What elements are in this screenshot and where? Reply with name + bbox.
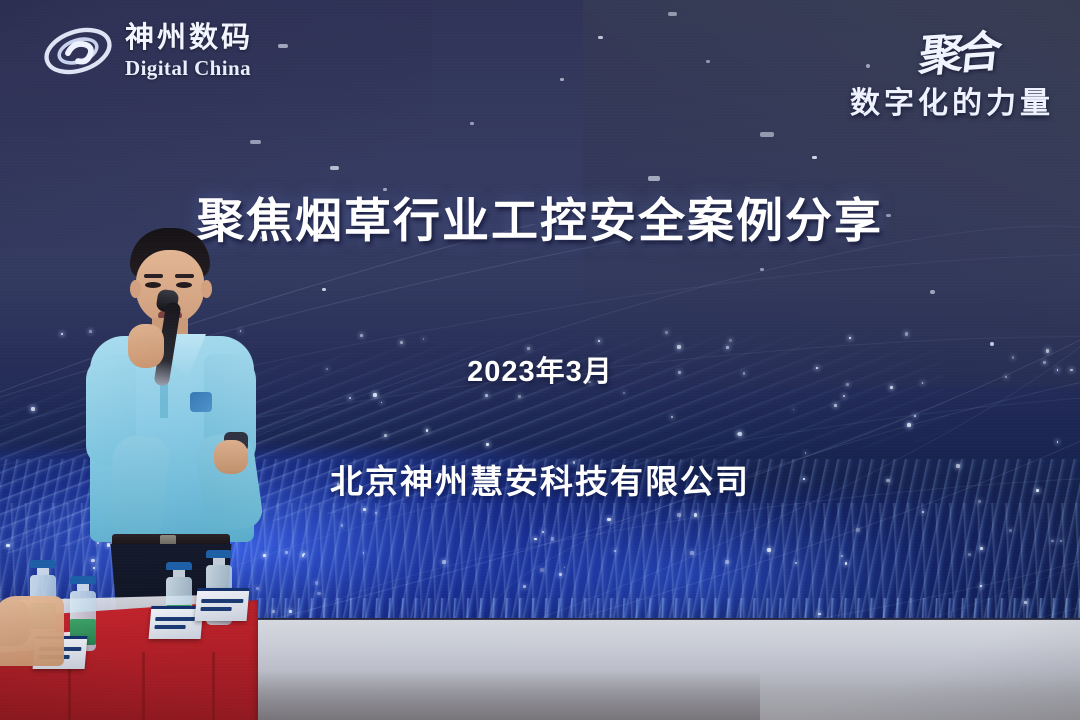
presenter-brow-left [144, 274, 163, 278]
particle-dot [905, 332, 909, 336]
particle-dot [1009, 529, 1012, 532]
particle-dot [317, 592, 321, 596]
particle-dot [677, 513, 681, 517]
bottle-neck [77, 584, 89, 591]
digital-china-wordmark: 神州数码 Digital China [125, 24, 253, 79]
particle-dot [426, 429, 428, 431]
particle-dot [534, 538, 536, 540]
dash-sparkle [990, 342, 994, 346]
particle-dot [6, 544, 9, 547]
table-cloth-fold [212, 652, 215, 720]
particle-dot [551, 537, 554, 540]
particle-dot [834, 404, 837, 407]
particle-dot [671, 416, 673, 418]
particle-dot [442, 560, 446, 564]
particle-dot [373, 393, 377, 397]
bottle-neck [213, 558, 225, 565]
particle-dot [272, 610, 275, 613]
event-calligraphy: 聚合 [916, 15, 1000, 84]
name-card [195, 588, 250, 621]
particle-dot [375, 512, 377, 514]
presenter-hand-right [214, 440, 248, 474]
particle-dot [729, 339, 732, 342]
dash-sparkle [470, 122, 474, 125]
digital-china-swirl-icon [42, 20, 114, 82]
event-slogan: 数字化的力量 [850, 78, 1054, 122]
particle-dot [665, 331, 668, 334]
particle-dot [795, 562, 797, 564]
presenter-brow-right [175, 274, 194, 278]
dash-sparkle [706, 60, 710, 63]
particle-dot [690, 551, 694, 555]
dash-sparkle [812, 156, 817, 159]
dash-sparkle [560, 78, 564, 81]
presenter-ear-right [201, 280, 212, 298]
conference-stage-photo: 神州数码 Digital China 聚合 数字化的力量 聚焦烟草行业工控安全案… [0, 0, 1080, 720]
bottle-cap [30, 560, 56, 568]
brand-name-en: Digital China [125, 58, 253, 79]
dash-sparkle [668, 12, 677, 16]
event-logo: 聚合 数字化的力量 [850, 18, 1054, 122]
particle-dot [849, 337, 851, 339]
dash-sparkle [278, 44, 288, 48]
presenter-hand-left [128, 324, 164, 368]
particle-dot [907, 423, 910, 426]
dash-sparkle [760, 132, 774, 137]
particle-dot [289, 610, 291, 612]
dash-sparkle [930, 290, 935, 294]
presenter-eye-right [176, 282, 192, 288]
dash-sparkle [250, 140, 261, 144]
presenter-arm-left [105, 433, 171, 536]
brand-name-cn: 神州数码 [125, 24, 253, 53]
presenter-eye-left [145, 282, 161, 288]
table-cloth-fold [142, 652, 145, 720]
bottle-neck [37, 568, 49, 575]
particle-dot [980, 547, 983, 550]
bottle-cap [206, 550, 232, 558]
particle-dot [315, 581, 319, 585]
particle-dot [818, 613, 820, 615]
particle-dot [980, 585, 982, 587]
digital-china-logo: 神州数码 Digital China [42, 20, 253, 82]
presenter-ear-left [130, 280, 141, 298]
particle-dot [607, 518, 610, 521]
particle-dot [845, 562, 847, 564]
shirt-logo-icon [190, 392, 212, 412]
bottle-neck [173, 570, 185, 577]
dash-sparkle [322, 288, 326, 291]
particle-dot [540, 568, 544, 572]
bottle-cap [166, 562, 192, 570]
seated-person-hands [0, 596, 64, 666]
particle-dot [349, 397, 351, 399]
particle-dot [31, 407, 35, 411]
particle-dot [1024, 601, 1027, 604]
particle-dot [363, 508, 366, 511]
particle-dot [623, 392, 625, 394]
particle-dot [856, 528, 860, 532]
dash-sparkle [760, 268, 764, 271]
particle-dot [767, 548, 771, 552]
particle-dot [559, 573, 562, 576]
dash-sparkle [598, 36, 603, 39]
dash-sparkle [648, 176, 660, 181]
particle-dot [486, 443, 489, 446]
dash-sparkle [330, 166, 339, 170]
particle-dot [725, 560, 729, 564]
bottle-cap [70, 576, 96, 584]
